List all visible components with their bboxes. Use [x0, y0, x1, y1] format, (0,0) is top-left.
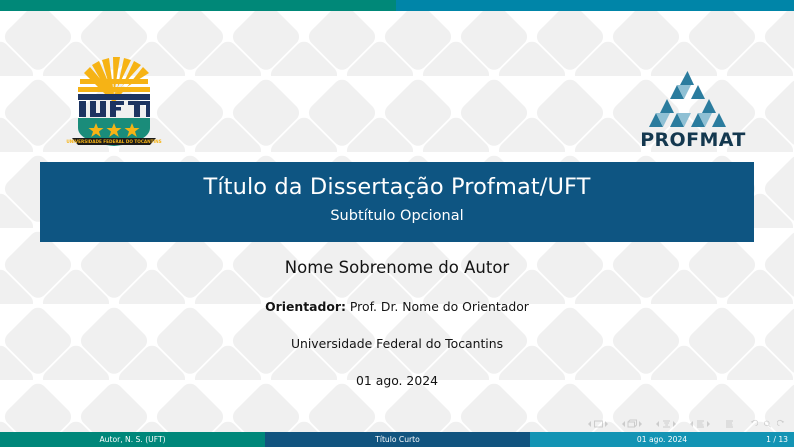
nav-group-subsection[interactable] [656, 419, 676, 429]
advisor-name: Prof. Dr. Nome do Orientador [350, 299, 529, 314]
frame-icon[interactable] [627, 419, 638, 429]
top-bar-right-segment [396, 0, 794, 11]
title-block: Título da Dissertação Profmat/UFT Subtít… [40, 162, 754, 242]
institution-name: Universidade Federal do Tocantins [0, 336, 794, 351]
top-bar-left-segment [0, 0, 396, 11]
footer-author-segment: Autor, N. S. (UFT) [0, 432, 265, 447]
nav-group-slide[interactable] [588, 419, 608, 429]
footer-date-text: 01 ago. 2024 [530, 435, 794, 444]
beamer-navigation-bar[interactable] [588, 416, 786, 431]
presentation-date: 01 ago. 2024 [0, 373, 794, 388]
top-decoration-bar [0, 0, 794, 11]
slide-prev-icon[interactable] [588, 421, 591, 427]
author-block: Nome Sobrenome do Autor Orientador: Prof… [0, 258, 794, 388]
profmat-wordmark: PROFMAT [640, 129, 746, 151]
page-subtitle: Subtítulo Opcional [330, 208, 463, 224]
presentation-slide: UNIVERSIDADE FEDERAL DO TOCANTINS [0, 0, 794, 447]
nav-group-frame[interactable] [622, 419, 642, 429]
page-title: Título da Dissertação Profmat/UFT [203, 174, 590, 201]
frame-next-icon[interactable] [639, 421, 642, 427]
slide-footer: Autor, N. S. (UFT) Título Curto 01 ago. … [0, 432, 794, 447]
section-icon[interactable] [695, 419, 706, 429]
subsection-icon[interactable] [661, 419, 672, 429]
subsection-prev-icon[interactable] [656, 421, 659, 427]
advisor-line: Orientador: Prof. Dr. Nome do Orientador [0, 299, 794, 314]
section-next-icon[interactable] [707, 421, 710, 427]
profmat-logo: PROFMAT [632, 55, 754, 151]
uft-shield-caption: UNIVERSIDADE FEDERAL DO TOCANTINS [66, 139, 161, 144]
footer-date-page-segment: 01 ago. 2024 1 / 13 [530, 432, 794, 447]
footer-title-text: Título Curto [375, 435, 420, 444]
uft-logo: UNIVERSIDADE FEDERAL DO TOCANTINS [66, 45, 162, 149]
footer-author-text: Autor, N. S. (UFT) [99, 435, 165, 444]
author-name: Nome Sobrenome do Autor [0, 258, 794, 277]
footer-title-segment: Título Curto [265, 432, 530, 447]
slide-icon[interactable] [593, 419, 604, 429]
footer-page-number: 1 / 13 [766, 435, 788, 444]
search-icon[interactable] [763, 419, 772, 429]
section-prev-icon[interactable] [690, 421, 693, 427]
subsection-next-icon[interactable] [673, 421, 676, 427]
nav-group-section[interactable] [690, 419, 710, 429]
frame-prev-icon[interactable] [622, 421, 625, 427]
forward-icon[interactable] [777, 419, 786, 429]
slide-next-icon[interactable] [605, 421, 608, 427]
back-icon[interactable] [749, 419, 758, 429]
advisor-label: Orientador: [265, 299, 346, 314]
document-icon[interactable] [724, 419, 735, 429]
logo-row: UNIVERSIDADE FEDERAL DO TOCANTINS [0, 11, 794, 157]
